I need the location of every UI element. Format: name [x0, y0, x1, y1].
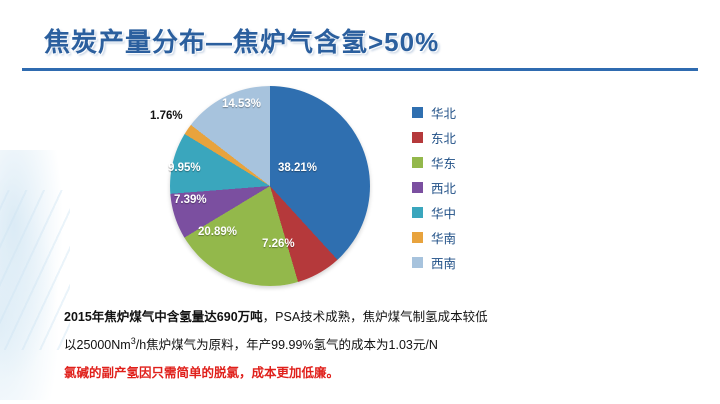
note-line-2-b: /h焦炉煤气为原料，年产99.99%氢气的成本为1.03元/N: [136, 338, 438, 352]
legend-swatch-huadong: [412, 157, 423, 168]
legend-item-huazhong: 华中: [412, 200, 522, 225]
note-line-2: 以25000Nm3/h焦炉煤气为原料，年产99.99%氢气的成本为1.03元/N: [64, 329, 664, 357]
pie-label-huanan: 1.76%: [150, 110, 183, 122]
title-divider: [22, 68, 698, 71]
note-line-1: 2015年焦炉煤气中含氢量达690万吨，PSA技术成熟，焦炉煤气制氢成本较低: [64, 305, 664, 329]
legend-swatch-huanan: [412, 232, 423, 243]
legend-label-huabei: 华北: [431, 103, 456, 122]
note-line-1-rest: ，PSA技术成熟，焦炉煤气制氢成本较低: [263, 310, 488, 324]
legend-label-xibei: 西北: [431, 178, 456, 197]
pie-label-huabei: 38.21%: [278, 162, 317, 174]
pie-label-huazhong: 9.95%: [168, 162, 201, 174]
legend-swatch-dongbei: [412, 132, 423, 143]
decorative-watermark: [0, 150, 70, 400]
pie-label-dongbei: 7.26%: [262, 238, 295, 250]
legend-item-dongbei: 东北: [412, 125, 522, 150]
page-title: 焦炭产量分布—焦炉气含氢>50%: [44, 22, 439, 59]
pie-label-xibei: 7.39%: [174, 194, 207, 206]
pie-graphic: [170, 86, 370, 286]
pie-label-huadong: 20.89%: [198, 226, 237, 238]
legend-label-dongbei: 东北: [431, 128, 456, 147]
note-line-1-bold: 2015年焦炉煤气中含氢量达690万吨: [64, 310, 263, 324]
legend-label-huanan: 华南: [431, 228, 456, 247]
slide: 焦炭产量分布—焦炉气含氢>50% 38.21% 7.26% 20.89% 7.3…: [0, 0, 720, 404]
note-line-2-a: 以25000Nm: [64, 338, 131, 352]
legend-item-xinan: 西南: [412, 250, 522, 275]
legend-swatch-huazhong: [412, 207, 423, 218]
note-line-3: 氯碱的副产氢因只需简单的脱氯，成本更加低廉。: [64, 361, 664, 385]
pie-label-xinan: 14.53%: [222, 98, 261, 110]
legend-item-huadong: 华东: [412, 150, 522, 175]
legend-swatch-xibei: [412, 182, 423, 193]
legend-item-huabei: 华北: [412, 100, 522, 125]
chart-legend: 华北 东北 华东 西北 华中 华南 西南: [412, 100, 522, 275]
legend-label-huazhong: 华中: [431, 203, 456, 222]
legend-item-xibei: 西北: [412, 175, 522, 200]
legend-label-huadong: 华东: [431, 153, 456, 172]
decorative-watermark-lines: [0, 190, 70, 350]
legend-item-huanan: 华南: [412, 225, 522, 250]
legend-swatch-huabei: [412, 107, 423, 118]
pie-chart: 38.21% 7.26% 20.89% 7.39% 9.95% 1.76% 14…: [150, 82, 390, 294]
notes-block: 2015年焦炉煤气中含氢量达690万吨，PSA技术成熟，焦炉煤气制氢成本较低 以…: [64, 305, 664, 385]
legend-label-xinan: 西南: [431, 253, 456, 272]
legend-swatch-xinan: [412, 257, 423, 268]
